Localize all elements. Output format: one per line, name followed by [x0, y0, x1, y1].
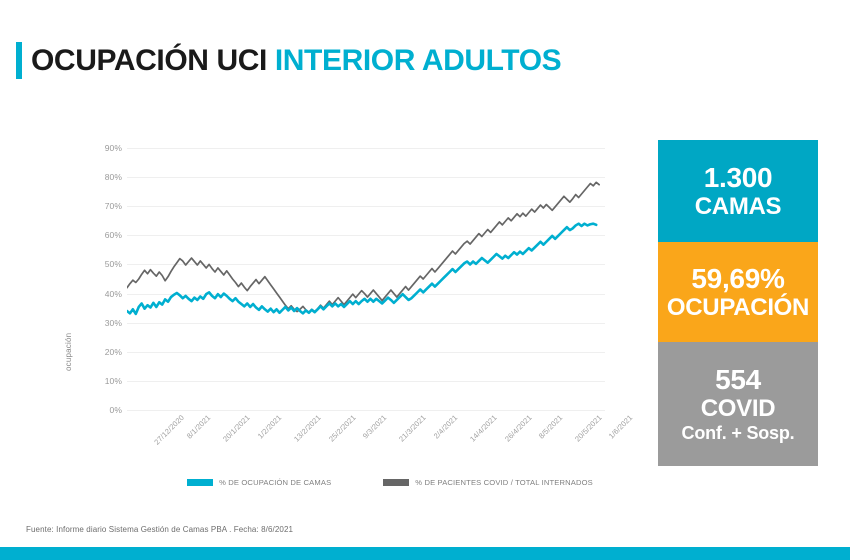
y-tick-label: 20% [78, 347, 122, 357]
x-axis-ticks: 27/12/20208/1/202120/1/20211/2/202113/2/… [127, 413, 605, 473]
y-axis-title: ocupación [64, 333, 73, 371]
stat-covid-sublabel: Conf. + Sosp. [682, 423, 795, 445]
x-tick-label: 20/5/2021 [573, 413, 604, 444]
stat-occupancy-value: 59,69% [691, 263, 784, 294]
x-tick-label: 13/2/2021 [292, 413, 323, 444]
legend-item[interactable]: % DE PACIENTES COVID / TOTAL INTERNADOS [383, 478, 593, 487]
x-tick-label: 25/2/2021 [327, 413, 358, 444]
x-tick-label: 1/6/2021 [607, 413, 635, 441]
y-tick-label: 80% [78, 172, 122, 182]
gridline [127, 410, 605, 411]
x-tick-label: 14/4/2021 [468, 413, 499, 444]
y-tick-label: 90% [78, 143, 122, 153]
stat-card-covid: 554 COVID Conf. + Sosp. [658, 342, 818, 466]
source-note: Fuente: Informe diario Sistema Gestión d… [26, 525, 293, 534]
stat-covid-value: 554 [715, 364, 761, 395]
stat-beds-label: CAMAS [695, 193, 782, 220]
x-tick-label: 26/4/2021 [503, 413, 534, 444]
y-tick-label: 70% [78, 201, 122, 211]
occupancy-chart: ocupación 0%10%20%30%40%50%60%70%80%90% … [70, 135, 630, 485]
bottom-accent-bar [0, 547, 850, 560]
stat-beds-value: 1.300 [704, 162, 773, 193]
title-accent-bar [16, 42, 22, 79]
stat-card-occupancy: 59,69% OCUPACIÓN [658, 242, 818, 342]
page-title-part1: OCUPACIÓN UCI [31, 44, 267, 77]
x-tick-label: 1/2/2021 [255, 413, 283, 441]
series-line-beds-occupancy [127, 224, 596, 314]
legend-swatch [383, 479, 409, 486]
x-tick-label: 2/4/2021 [431, 413, 459, 441]
chart-series-svg [127, 148, 605, 410]
x-tick-label: 8/1/2021 [185, 413, 213, 441]
stats-panel: 1.300 CAMAS 59,69% OCUPACIÓN 554 COVID C… [658, 140, 818, 466]
stat-occupancy-label: OCUPACIÓN [667, 294, 809, 321]
y-tick-label: 0% [78, 405, 122, 415]
page-title-part2: INTERIOR ADULTOS [275, 44, 561, 77]
x-tick-label: 21/3/2021 [397, 413, 428, 444]
x-tick-label: 20/1/2021 [221, 413, 252, 444]
legend-item[interactable]: % DE OCUPACIÓN DE CAMAS [187, 478, 331, 487]
stat-covid-label: COVID [701, 395, 776, 422]
x-tick-label: 9/3/2021 [361, 413, 389, 441]
legend-label: % DE PACIENTES COVID / TOTAL INTERNADOS [415, 478, 593, 487]
chart-legend: % DE OCUPACIÓN DE CAMAS% DE PACIENTES CO… [170, 478, 610, 487]
y-tick-label: 50% [78, 259, 122, 269]
legend-label: % DE OCUPACIÓN DE CAMAS [219, 478, 331, 487]
stat-card-beds: 1.300 CAMAS [658, 140, 818, 242]
page-title: OCUPACIÓN UCI INTERIOR ADULTOS [16, 42, 561, 79]
y-tick-label: 30% [78, 318, 122, 328]
legend-swatch [187, 479, 213, 486]
y-tick-label: 60% [78, 230, 122, 240]
x-tick-label: 8/5/2021 [537, 413, 565, 441]
y-tick-label: 10% [78, 376, 122, 386]
chart-plot-area [127, 148, 605, 410]
page-title-text: OCUPACIÓN UCI INTERIOR ADULTOS [31, 46, 561, 76]
y-tick-label: 40% [78, 289, 122, 299]
x-tick-label: 27/12/2020 [152, 413, 186, 447]
